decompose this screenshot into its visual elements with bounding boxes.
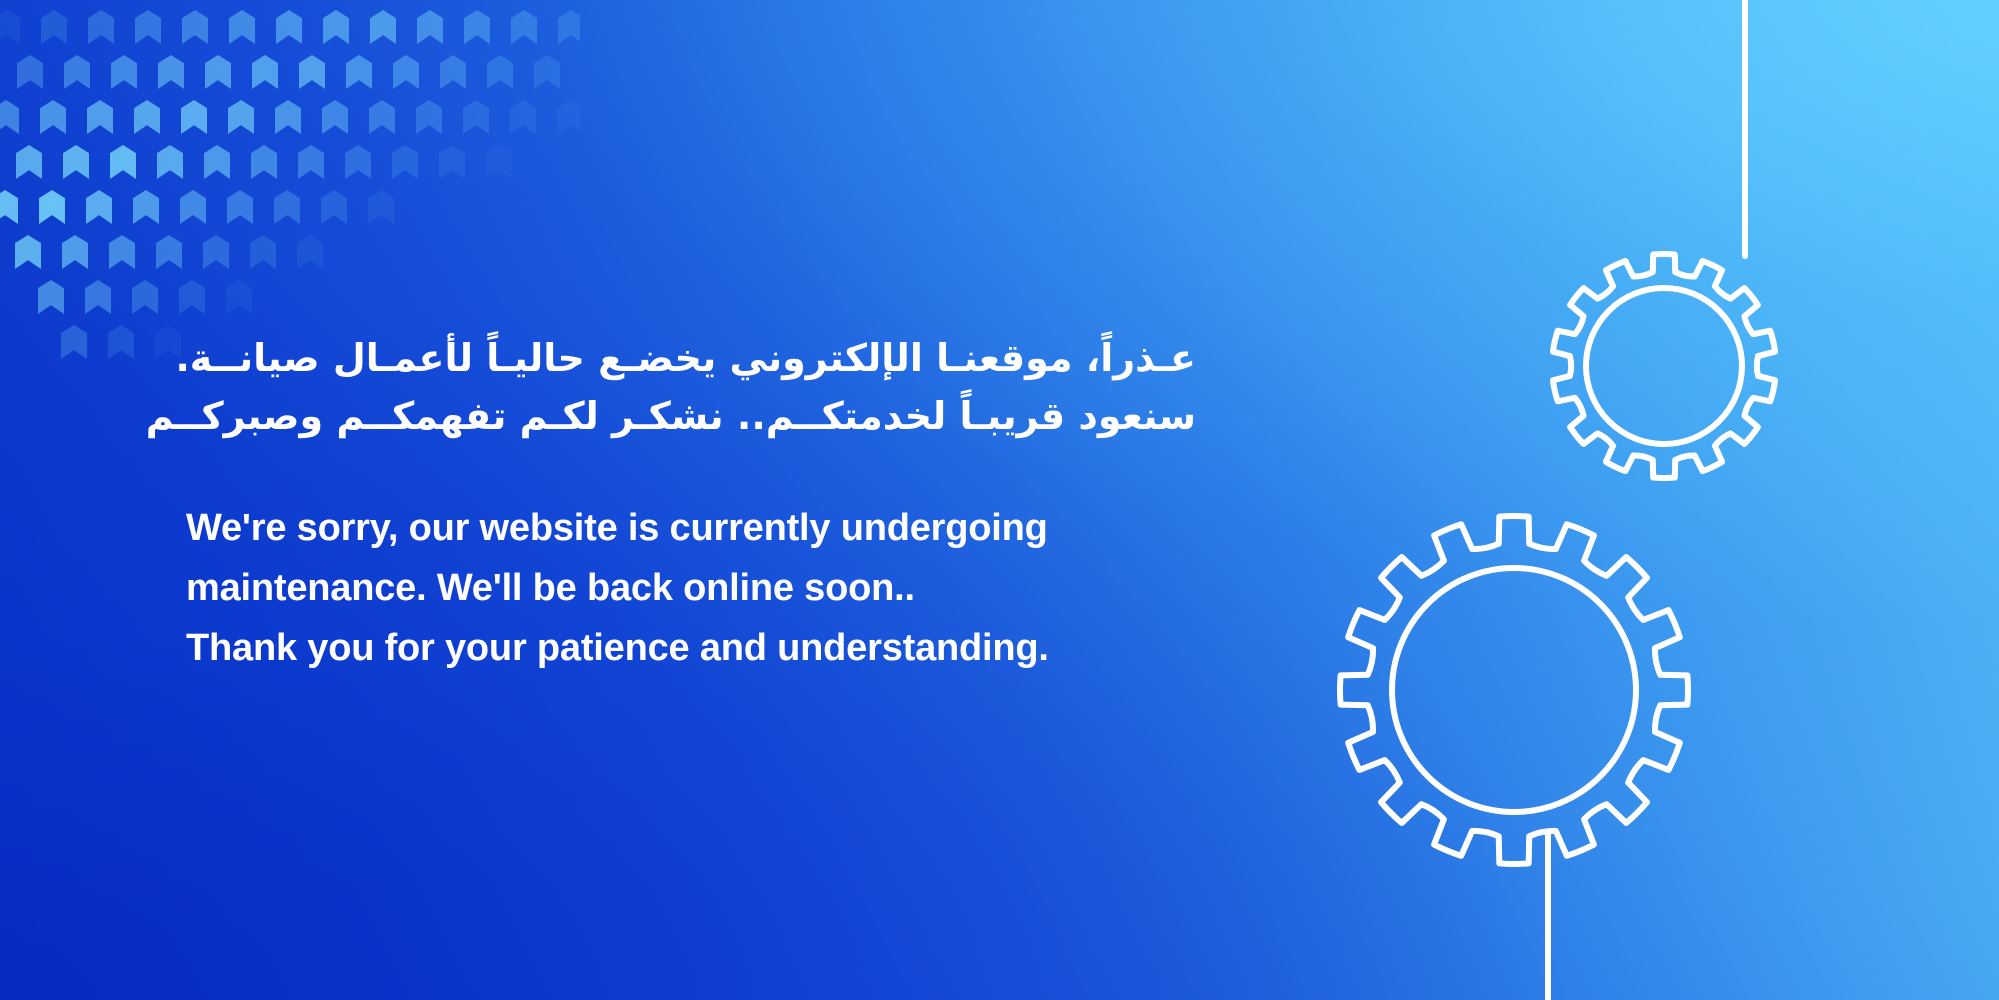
maintenance-page: عـذراً، موقعنـا الإلكتروني يخضـع حاليـاً… xyxy=(0,0,1999,1000)
maintenance-message-block: عـذراً، موقعنـا الإلكتروني يخضـع حاليـاً… xyxy=(186,330,1196,678)
english-message: We're sorry, our website is currently un… xyxy=(186,498,1196,678)
message-spacer xyxy=(186,446,1196,498)
english-message-line-1: We're sorry, our website is currently un… xyxy=(186,498,1196,558)
arabic-message: عـذراً، موقعنـا الإلكتروني يخضـع حاليـاً… xyxy=(186,330,1196,446)
english-message-line-3: Thank you for your patience and understa… xyxy=(186,618,1196,678)
arabic-message-line-1: عـذراً، موقعنـا الإلكتروني يخضـع حاليـاً… xyxy=(186,330,1196,388)
english-message-line-2: maintenance. We'll be back online soon.. xyxy=(186,558,1196,618)
arabic-message-line-2: سنعود قريبـاً لخدمتكــم.. نشكـر لكـم تفه… xyxy=(186,388,1196,446)
